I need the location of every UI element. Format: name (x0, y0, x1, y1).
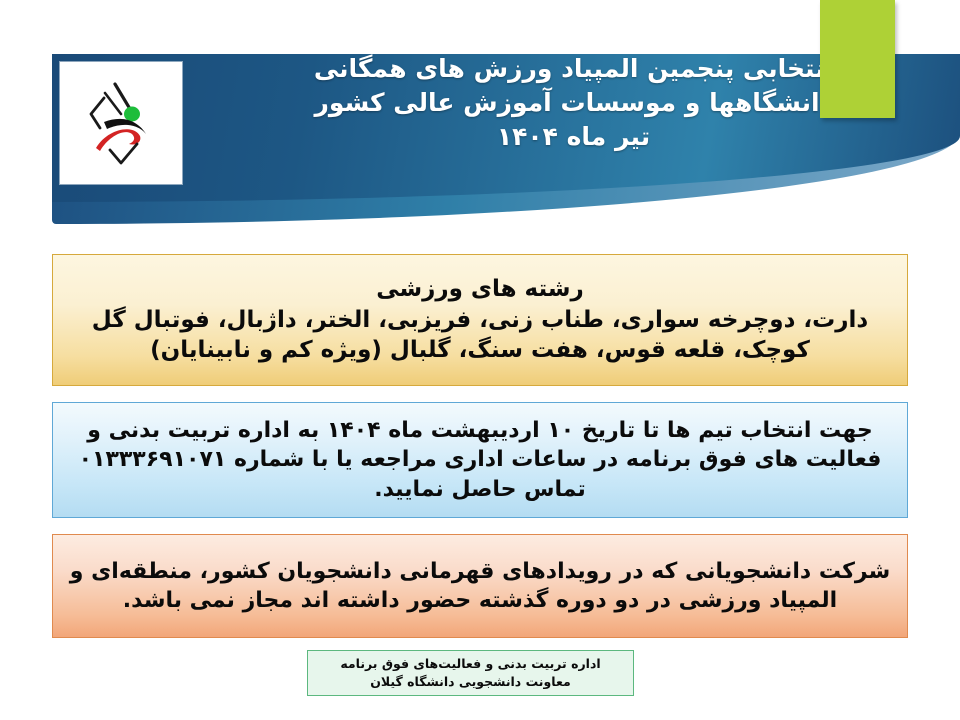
sports-panel-items: دارت، دوچرخه سواری، طناب زنی، فریزبی، ال… (63, 305, 897, 366)
sports-panel-heading: رشته های ورزشی (63, 274, 897, 304)
registration-contact-panel: جهت انتخاب تیم ها تا تاریخ ۱۰ اردیبهشت م… (52, 402, 908, 518)
sports-list-panel: رشته های ورزشی دارت، دوچرخه سواری، طناب … (52, 254, 908, 386)
logo-head-dot (124, 107, 140, 122)
green-accent-tab (820, 0, 895, 118)
logo-figure-icon (60, 62, 182, 184)
poster-slide: انتخابی پنجمین المپیاد ورزش های همگانی د… (0, 0, 960, 720)
registration-contact-text: جهت انتخاب تیم ها تا تاریخ ۱۰ اردیبهشت م… (63, 416, 897, 504)
poster-header: انتخابی پنجمین المپیاد ورزش های همگانی د… (0, 0, 960, 240)
organization-logo (60, 62, 182, 184)
eligibility-rule-text: شرکت دانشجویانی که در رویدادهای قهرمانی … (63, 557, 897, 616)
eligibility-rule-panel: شرکت دانشجویانی که در رویدادهای قهرمانی … (52, 534, 908, 638)
issuing-office-footer: اداره تربیت بدنی و فعالیت‌های فوق برنامه… (307, 650, 634, 696)
